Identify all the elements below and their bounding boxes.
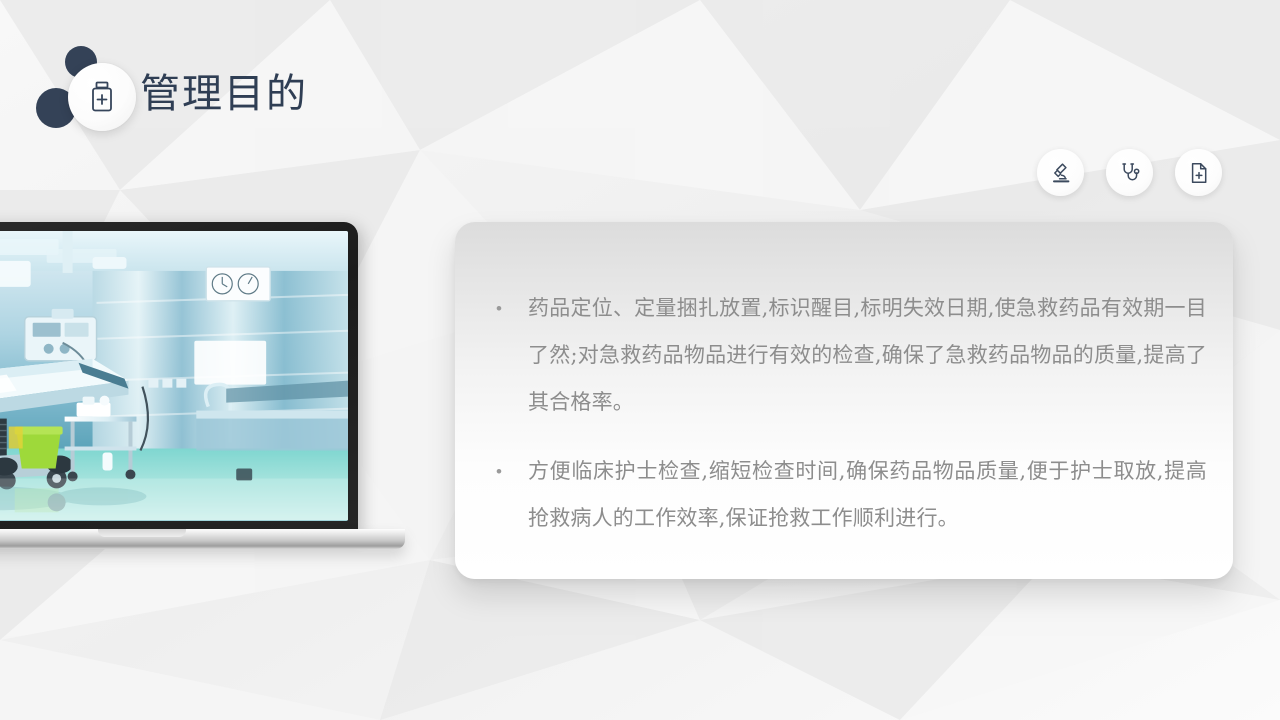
slide-root: 管理目的 xyxy=(0,0,1280,720)
document-add-button[interactable] xyxy=(1175,149,1222,196)
toolbar xyxy=(1037,149,1222,196)
bullet-text: 方便临床护士检查,缩短检查时间,确保药品物品质量,便于护士取放,提高抢救病人的工… xyxy=(528,448,1207,542)
bullet-marker: • xyxy=(495,448,528,495)
bullet-text: 药品定位、定量捆扎放置,标识醒目,标明失效日期,使急救药品有效期一目了然;对急救… xyxy=(528,285,1207,426)
laptop-screen xyxy=(0,231,348,521)
laptop-mockup xyxy=(0,222,418,567)
title-icon-circle xyxy=(68,63,136,131)
bullet-marker: • xyxy=(495,285,528,332)
medicine-bottle-icon xyxy=(89,81,115,113)
stethoscope-icon xyxy=(1118,161,1142,185)
page-title-block: 管理目的 xyxy=(28,38,448,143)
stethoscope-button[interactable] xyxy=(1106,149,1153,196)
microscope-button[interactable] xyxy=(1037,149,1084,196)
content-card: • 药品定位、定量捆扎放置,标识醒目,标明失效日期,使急救药品有效期一目了然;对… xyxy=(455,222,1233,579)
bullet-list: • 药品定位、定量捆扎放置,标识醒目,标明失效日期,使急救药品有效期一目了然;对… xyxy=(495,285,1207,564)
operating-room-photo xyxy=(0,231,348,520)
document-add-icon xyxy=(1187,161,1211,185)
laptop-notch xyxy=(98,529,186,537)
laptop-base xyxy=(0,529,405,549)
page-title: 管理目的 xyxy=(140,60,308,128)
list-item: • 方便临床护士检查,缩短检查时间,确保药品物品质量,便于护士取放,提高抢救病人… xyxy=(495,448,1207,542)
microscope-icon xyxy=(1049,161,1073,185)
list-item: • 药品定位、定量捆扎放置,标识醒目,标明失效日期,使急救药品有效期一目了然;对… xyxy=(495,285,1207,426)
laptop-lid xyxy=(0,222,358,534)
